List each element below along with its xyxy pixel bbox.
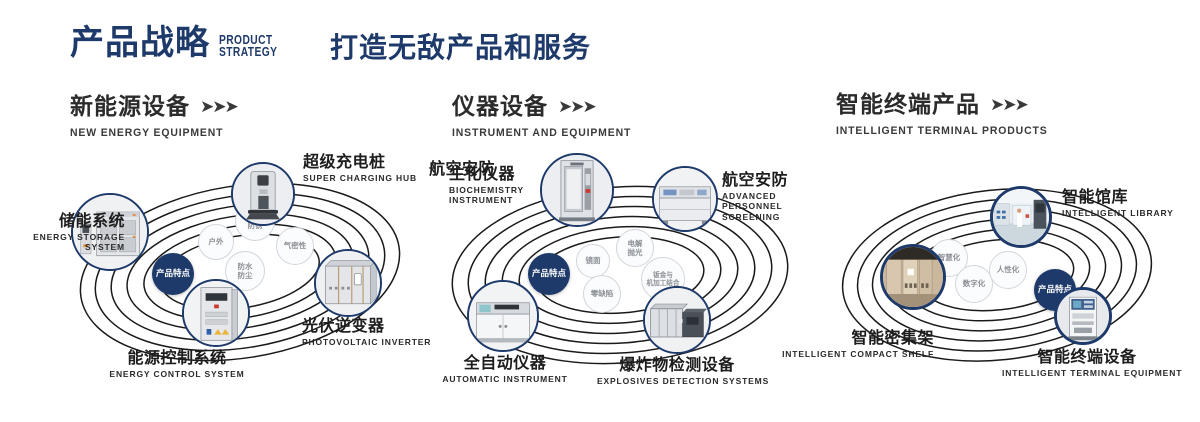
caption-energy-storage: 储能系统 ENERGY STORAGE SYSTEM xyxy=(0,213,125,253)
chevrons-right-icon: ➤➤➤ xyxy=(558,99,595,116)
explosive-detector-art xyxy=(645,288,709,352)
cluster-instrument: 产品特点 镜面 电解 抛光 零缺陷 钣金与 机加工结合 航空安防 生化仪器 xyxy=(430,165,810,380)
page-title-en: PRODUCT STRATEGY xyxy=(219,34,277,58)
kiosk-terminal-art xyxy=(1057,290,1109,342)
cluster-new-energy: 产品特点 户外 防腐 防锈 防水 防尘 气密性 储能系统 xyxy=(55,165,425,380)
node-advanced-personnel-screening[interactable] xyxy=(652,166,718,232)
automatic-analyzer-art xyxy=(469,282,537,350)
product-strategy-infographic: 产品战略 PRODUCT STRATEGY 打造无敌产品和服务 新能源设备➤➤➤… xyxy=(0,0,1200,422)
caption-intelligent-compact-shelf: 智能密集架 INTELLIGENT COMPACT SHELF xyxy=(774,330,934,359)
caption-advanced-personnel-screening: 航空安防 ADVANCED PERSONNEL SCREENING xyxy=(722,172,814,223)
section-title-cn: 新能源设备 xyxy=(70,94,190,120)
compact-shelf-art xyxy=(883,247,943,307)
page-slogan: 打造无敌产品和服务 xyxy=(330,34,591,62)
library-room-art xyxy=(993,189,1049,245)
page-title-cn: 产品战略 xyxy=(70,26,210,60)
node-intelligent-compact-shelf[interactable] xyxy=(880,244,946,310)
control-cabinet-art xyxy=(184,281,248,345)
caption-automatic-instrument: 全自动仪器 AUTOMATIC INSTRUMENT xyxy=(420,355,590,384)
section-header-instrument: 仪器设备➤➤➤ INSTRUMENT AND EQUIPMENT xyxy=(452,96,641,139)
node-super-charging-hub[interactable] xyxy=(231,162,295,226)
caption-energy-control-system: 能源控制系统 ENERGY CONTROL SYSTEM xyxy=(77,350,277,379)
feature-bubble: 人性化 xyxy=(989,251,1027,289)
caption-explosives-detection: 爆炸物检测设备 EXPLOSIVES DETECTION SYSTEMS xyxy=(597,357,757,386)
caption-intelligent-terminal-equipment: 智能终端设备 INTELLIGENT TERMINAL EQUIPMENT xyxy=(1002,349,1172,378)
node-energy-control-system[interactable] xyxy=(182,279,250,347)
feature-bubble: 数字化 xyxy=(955,265,993,303)
caption-biochemistry-instrument: 生化仪器 BIOCHEMISTRY INSTRUMENT xyxy=(449,166,535,206)
section-title-en: INTELLIGENT TERMINAL PRODUCTS xyxy=(836,125,1048,137)
section-title-en: NEW ENERGY EQUIPMENT xyxy=(70,127,228,139)
caption-intelligent-library: 智能馆库 INTELLIGENT LIBRARY xyxy=(1062,189,1174,218)
section-title-cn: 仪器设备 xyxy=(452,94,548,120)
feature-bubble: 镜面 xyxy=(576,244,610,278)
section-title-cn: 智能终端产品 xyxy=(836,92,980,118)
charging-pile-art xyxy=(233,164,293,224)
node-pv-inverter[interactable] xyxy=(314,249,382,317)
cluster-intelligent-terminal: 智慧化 数字化 人性化 产品特点 智能馆库 xyxy=(822,165,1172,380)
section-title-en: INSTRUMENT AND EQUIPMENT xyxy=(452,127,631,139)
node-intelligent-terminal-equipment[interactable] xyxy=(1054,287,1112,345)
chevrons-right-icon: ➤➤➤ xyxy=(200,99,237,116)
page-title-en-line2: STRATEGY xyxy=(219,45,277,59)
pv-inverter-cabinet-art xyxy=(316,251,380,315)
node-explosives-detection[interactable] xyxy=(643,286,711,354)
node-biochemistry-instrument[interactable] xyxy=(540,153,614,227)
biochem-scanner-art xyxy=(542,155,612,225)
page-title: 产品战略 PRODUCT STRATEGY xyxy=(70,26,290,60)
feature-bubble: 户外 xyxy=(198,224,234,260)
section-header-intelligent-terminal: 智能终端产品➤➤➤ INTELLIGENT TERMINAL PRODUCTS xyxy=(836,94,1059,137)
screening-machine-art xyxy=(654,168,716,230)
caption-pv-inverter: 光伏逆变器 PHOTOVOLTAIC INVERTER xyxy=(302,318,431,347)
section-header-new-energy: 新能源设备➤➤➤ NEW ENERGY EQUIPMENT xyxy=(70,96,237,139)
chevrons-right-icon: ➤➤➤ xyxy=(990,97,1027,114)
node-intelligent-library[interactable] xyxy=(990,186,1052,248)
node-automatic-instrument[interactable] xyxy=(467,280,539,352)
feature-bubble: 气密性 xyxy=(276,227,314,265)
feature-bubble: 零缺陷 xyxy=(583,275,621,313)
